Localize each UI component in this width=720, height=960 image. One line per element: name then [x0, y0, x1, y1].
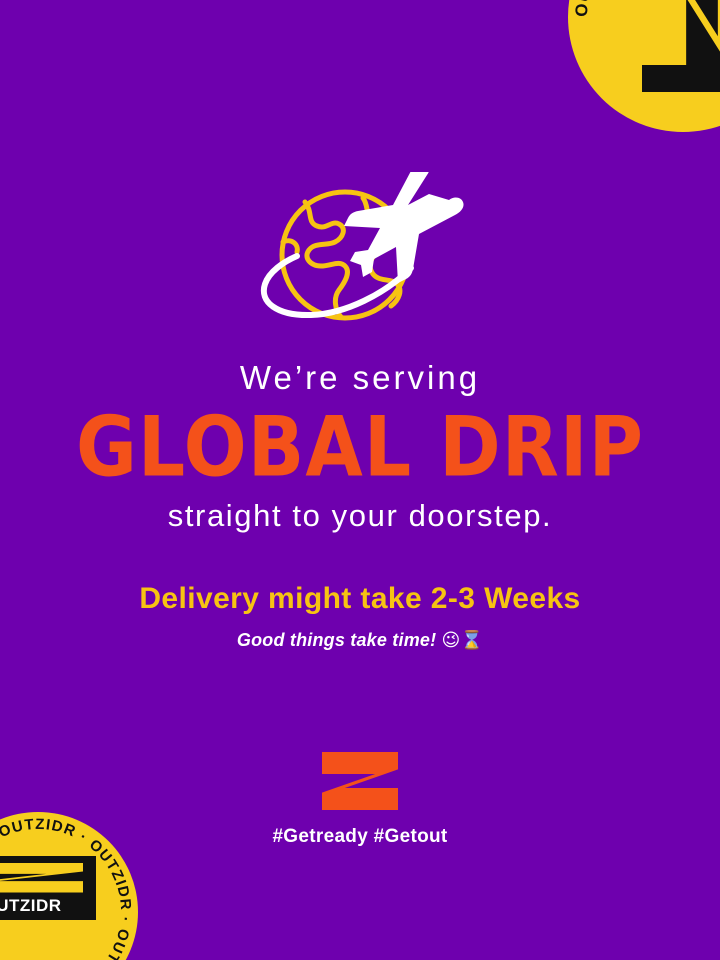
reassurance-label: Good things take time!: [237, 630, 436, 650]
airplane-icon: [344, 172, 464, 283]
page-title: GLOBAL DRIP: [0, 406, 720, 489]
brand-badge-bottom-left: OUTZIDR · OUTZIDR · OUTZIDR · OUTZIDR · …: [0, 812, 138, 960]
copy-block: We’re serving GLOBAL DRIP straight to yo…: [0, 360, 720, 651]
globe-airplane-illustration: [235, 172, 485, 342]
badge-plate: [642, 0, 720, 92]
badge-wordmark: OUTZIDR: [0, 896, 62, 916]
z-logo-mark-icon: [0, 863, 83, 893]
wink-hourglass-emoji: 😉⌛: [442, 630, 484, 651]
promo-poster: OUTZIDR · OUTZIDR · OUTZIDR · OUTZIDR ·: [0, 0, 720, 960]
eyebrow-text: We’re serving: [0, 360, 720, 396]
z-logo-mark-icon: [636, 0, 720, 65]
delivery-notice: Delivery might take 2-3 Weeks: [0, 582, 720, 616]
brand-badge-top-right: OUTZIDR · OUTZIDR · OUTZIDR · OUTZIDR ·: [568, 0, 720, 132]
reassurance-text: Good things take time! 😉⌛: [0, 630, 720, 651]
z-logo-mark-icon: [322, 752, 398, 810]
subhead-text: straight to your doorstep.: [0, 498, 720, 534]
badge-plate: OUTZIDR: [0, 856, 96, 920]
